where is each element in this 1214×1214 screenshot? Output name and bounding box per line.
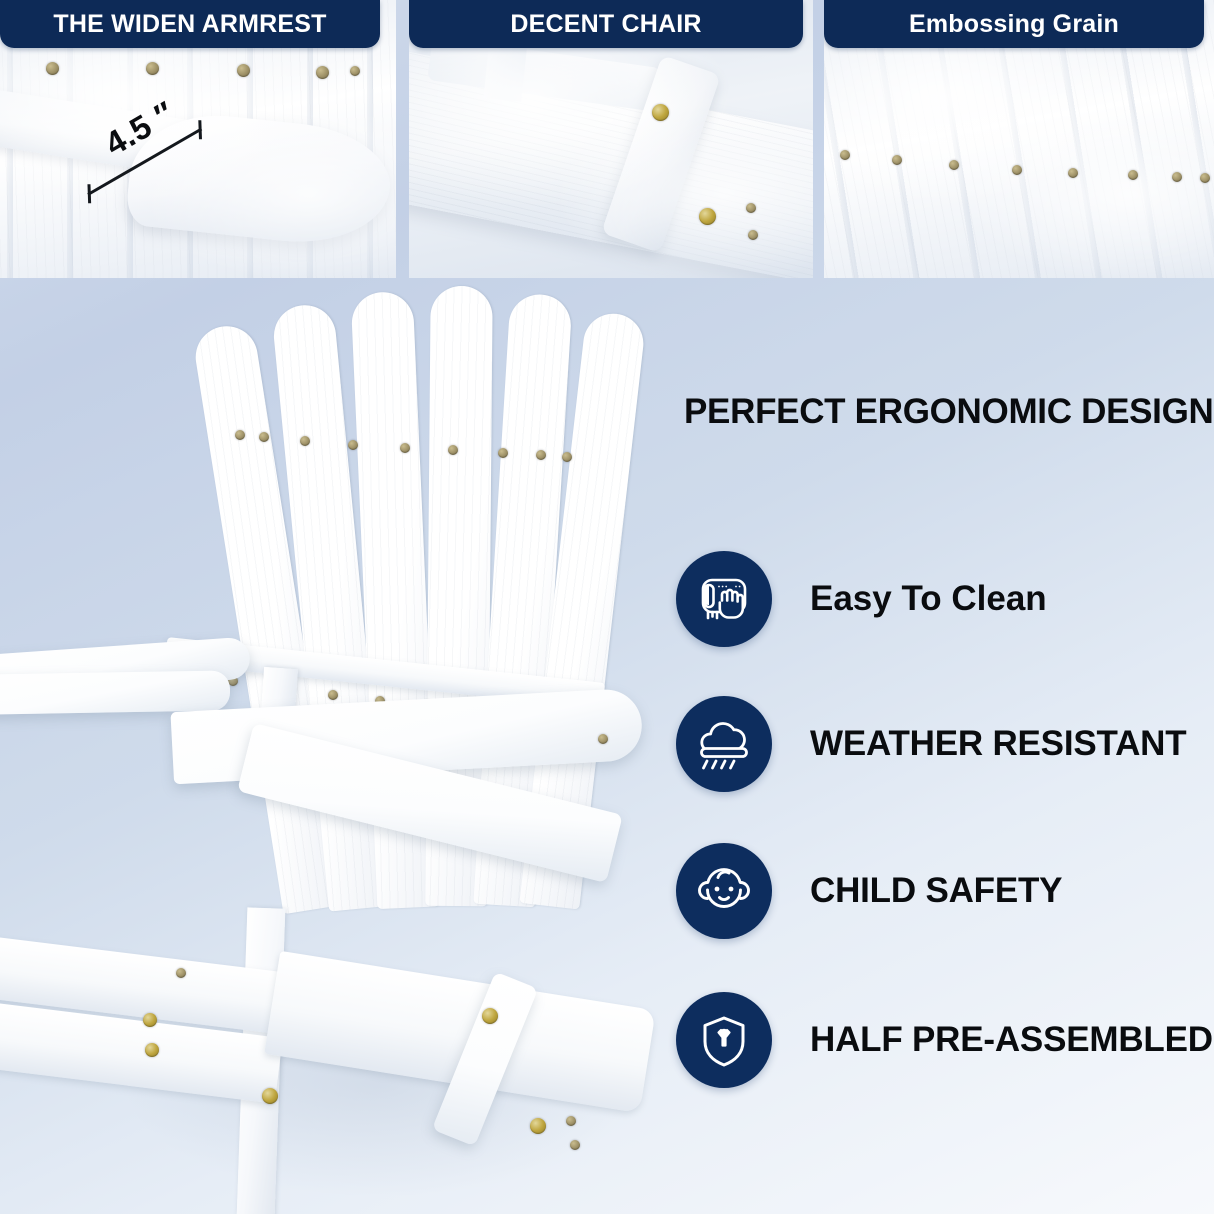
screw-head xyxy=(400,443,410,453)
wipe-cloth-hand-icon xyxy=(676,551,772,647)
screw-head xyxy=(840,150,850,160)
panel-title-banner-3: Embossing Grain xyxy=(824,0,1204,48)
rain-cloud-icon xyxy=(676,696,772,792)
screw-head xyxy=(350,66,360,76)
screw-head xyxy=(1068,168,1078,178)
rear-armrest-edge xyxy=(0,670,230,715)
screw-head xyxy=(746,203,756,213)
panel-widen-armrest: 4.5 ″ THE WIDEN ARMREST xyxy=(0,0,396,278)
screw-head-gold xyxy=(145,1043,159,1057)
adirondack-chair-photo xyxy=(0,268,690,1214)
feature-label-easy-to-clean: Easy To Clean xyxy=(810,579,1047,619)
screw-head xyxy=(892,155,902,165)
screw-head xyxy=(1200,173,1210,183)
screw-head xyxy=(316,66,329,79)
panel-title-3: Embossing Grain xyxy=(909,10,1119,39)
screw-head-gold xyxy=(652,104,669,121)
screw-head xyxy=(536,450,546,460)
feature-row-easy-to-clean: Easy To Clean xyxy=(676,551,1047,647)
feature-row-half-pre-assembled: HALF PRE-ASSEMBLED xyxy=(676,992,1213,1088)
screw-head xyxy=(1172,172,1182,182)
feature-label-weather-resistant: WEATHER RESISTANT xyxy=(810,724,1186,764)
screw-head xyxy=(328,690,338,700)
page-headline: PERFECT ERGONOMIC DESIGN xyxy=(684,392,1214,432)
screw-head xyxy=(566,1116,576,1126)
screw-head xyxy=(300,436,310,446)
feature-label-half-pre-assembled: HALF PRE-ASSEMBLED xyxy=(810,1020,1213,1060)
screw-head xyxy=(46,62,59,75)
panel-title-banner-1: THE WIDEN ARMREST xyxy=(0,0,380,48)
screw-head xyxy=(562,452,572,462)
main-section: PERFECT ERGONOMIC DESIGN Easy To Clean xyxy=(0,278,1214,1214)
panel-embossing-grain: Embossing Grain xyxy=(824,0,1214,278)
screw-head xyxy=(570,1140,580,1150)
screw-head-gold xyxy=(699,208,716,225)
baby-face-icon xyxy=(676,843,772,939)
panel-title-1: THE WIDEN ARMREST xyxy=(53,10,326,39)
screw-head xyxy=(448,445,458,455)
screw-head-gold xyxy=(143,1013,157,1027)
screw-head xyxy=(146,62,159,75)
screw-head xyxy=(235,430,245,440)
screw-head-gold xyxy=(530,1118,546,1134)
feature-row-child-safety: CHILD SAFETY xyxy=(676,843,1062,939)
screw-head-gold xyxy=(262,1088,278,1104)
feature-label-child-safety: CHILD SAFETY xyxy=(810,871,1062,911)
panel-title-2: DECENT CHAIR xyxy=(510,10,701,39)
shield-wrench-icon xyxy=(676,992,772,1088)
screw-head xyxy=(176,968,186,978)
screw-head xyxy=(259,432,269,442)
screw-head-gold xyxy=(482,1008,498,1024)
feature-row-weather-resistant: WEATHER RESISTANT xyxy=(676,696,1186,792)
screw-head xyxy=(1128,170,1138,180)
screw-head xyxy=(598,734,608,744)
screw-head xyxy=(237,64,250,77)
screw-head xyxy=(748,230,758,240)
screw-head xyxy=(949,160,959,170)
infographic-canvas: 4.5 ″ THE WIDEN ARMREST DECENT CHAIR xyxy=(0,0,1214,1214)
feature-panel-strip: 4.5 ″ THE WIDEN ARMREST DECENT CHAIR xyxy=(0,0,1214,280)
panel-decent-chair: DECENT CHAIR xyxy=(409,0,813,278)
screw-head xyxy=(348,440,358,450)
panel-title-banner-2: DECENT CHAIR xyxy=(409,0,803,48)
screw-head xyxy=(1012,165,1022,175)
screw-head xyxy=(498,448,508,458)
